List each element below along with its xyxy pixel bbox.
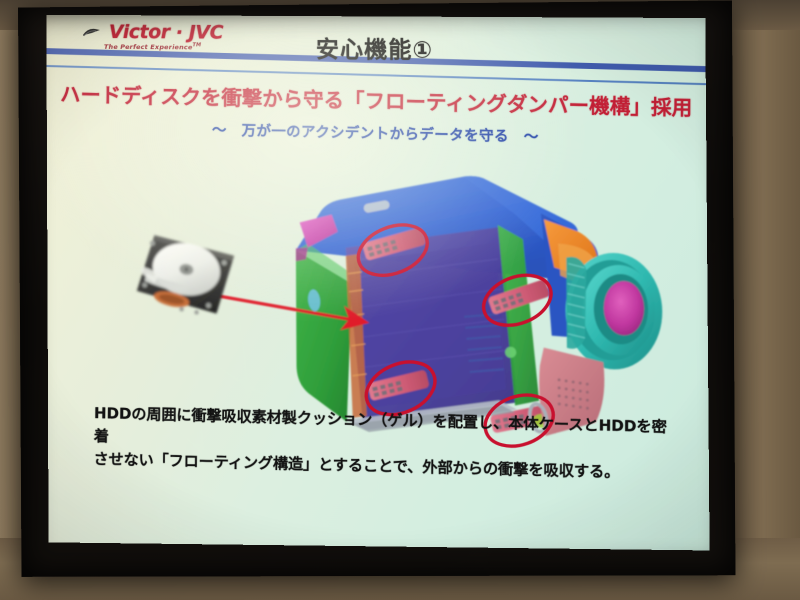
projected-slide: Victor · JVC The Perfect ExperienceTM 安心… (46, 15, 709, 551)
camcorder-body (295, 175, 663, 437)
slide-title: 安心機能① (46, 29, 705, 66)
hard-disk-drive-photo (125, 229, 247, 326)
slide-caption: HDDの周囲に衝撃吸収素材製クッション（ゲル）を配置し、本体ケースとHDDを密着… (93, 402, 674, 486)
projection-screen-frame: Victor · JVC The Perfect ExperienceTM 安心… (18, 0, 735, 576)
projector-room-photo: Victor · JVC The Perfect ExperienceTM 安心… (0, 0, 800, 600)
